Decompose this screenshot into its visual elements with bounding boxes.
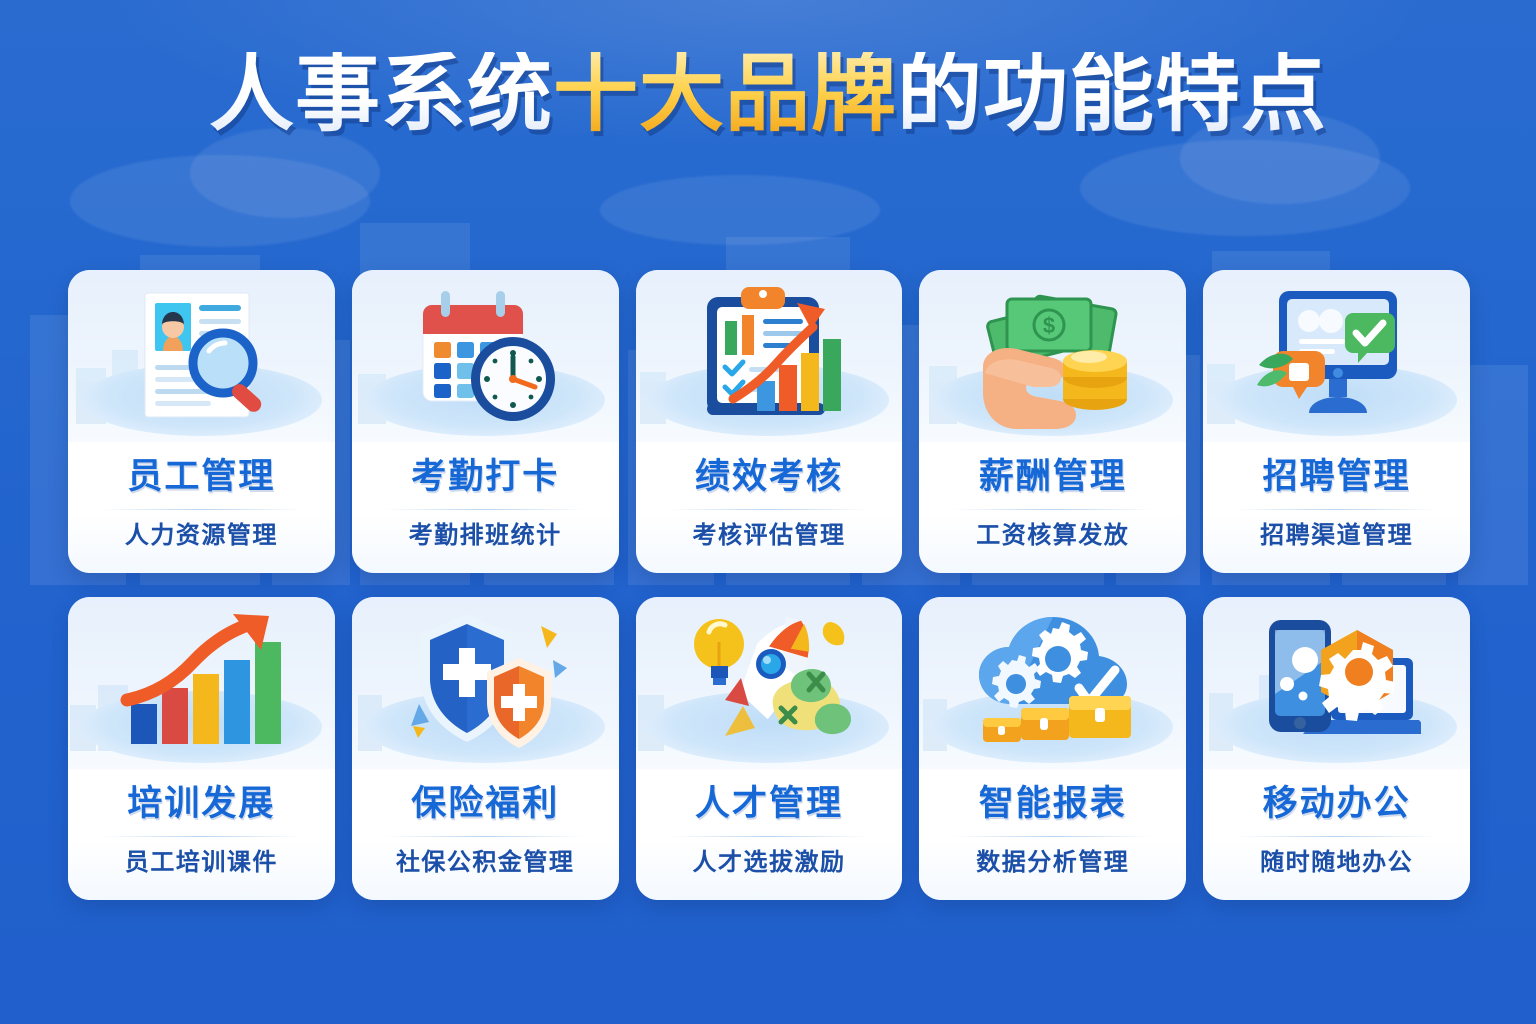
card-text-area: 移动办公 随时随地办公 [1203, 769, 1470, 900]
page-title-container: 人事系统十大品牌的功能特点 [0, 52, 1536, 137]
feature-card[interactable]: 员工管理 人力资源管理 [68, 270, 335, 573]
feature-card[interactable]: 培训发展 员工培训课件 [68, 597, 335, 900]
rocket-bulb-icon [685, 608, 853, 758]
feature-card[interactable]: 人才管理 人才选拔激励 [636, 597, 903, 900]
card-subtitle: 考核评估管理 [692, 522, 845, 551]
page-title: 人事系统十大品牌的功能特点 [209, 52, 1327, 137]
card-icon-area [352, 597, 619, 769]
card-text-area: 智能报表 数据分析管理 [919, 769, 1186, 900]
card-icon-area: $ [919, 270, 1186, 442]
hand-money-coins-icon: $ [969, 281, 1137, 431]
card-text-area: 员工管理 人力资源管理 [68, 442, 335, 573]
card-icon-area [636, 270, 903, 442]
monitor-check-icon [1253, 281, 1421, 431]
resume-magnifier-icon [117, 281, 285, 431]
feature-card[interactable]: 移动办公 随时随地办公 [1203, 597, 1470, 900]
card-title: 保险福利 [411, 783, 559, 824]
feature-card[interactable]: 智能报表 数据分析管理 [919, 597, 1186, 900]
card-icon-area [352, 270, 619, 442]
card-divider [1236, 509, 1437, 510]
card-title: 员工管理 [127, 456, 275, 497]
card-subtitle: 员工培训课件 [125, 849, 278, 878]
card-divider [385, 509, 586, 510]
card-title: 移动办公 [1263, 783, 1411, 824]
feature-card[interactable]: 考勤打卡 考勤排班统计 [352, 270, 619, 573]
card-divider [669, 509, 870, 510]
feature-card[interactable]: 保险福利 社保公积金管理 [352, 597, 619, 900]
card-divider [385, 836, 586, 837]
cloud-gears-boxes-icon [969, 608, 1137, 758]
card-subtitle: 人力资源管理 [125, 522, 278, 551]
card-subtitle: 数据分析管理 [976, 849, 1129, 878]
feature-cards-grid: 员工管理 人力资源管理 考勤打卡 [68, 270, 1470, 900]
card-title: 培训发展 [127, 783, 275, 824]
card-subtitle: 招聘渠道管理 [1260, 522, 1413, 551]
card-text-area: 保险福利 社保公积金管理 [352, 769, 619, 900]
card-subtitle: 工资核算发放 [976, 522, 1129, 551]
card-divider [1236, 836, 1437, 837]
calendar-clock-icon [401, 281, 569, 431]
card-text-area: 薪酬管理 工资核算发放 [919, 442, 1186, 573]
card-icon-area [636, 597, 903, 769]
card-title: 绩效考核 [695, 456, 843, 497]
card-title: 人才管理 [695, 783, 843, 824]
card-title: 薪酬管理 [979, 456, 1127, 497]
card-icon-area [919, 597, 1186, 769]
card-title: 智能报表 [979, 783, 1127, 824]
card-subtitle: 随时随地办公 [1260, 849, 1413, 878]
feature-card[interactable]: 绩效考核 考核评估管理 [636, 270, 903, 573]
card-text-area: 人才管理 人才选拔激励 [636, 769, 903, 900]
feature-card[interactable]: $ 薪酬管理 工资核算发放 [919, 270, 1186, 573]
card-text-area: 培训发展 员工培训课件 [68, 769, 335, 900]
card-icon-area [68, 270, 335, 442]
svg-text:$: $ [1043, 313, 1055, 338]
clipboard-chart-icon [685, 281, 853, 431]
card-divider [953, 509, 1154, 510]
card-subtitle: 人才选拔激励 [692, 849, 845, 878]
card-divider [101, 509, 302, 510]
card-subtitle: 社保公积金管理 [396, 849, 575, 878]
growth-chart-arrow-icon [117, 608, 285, 758]
card-icon-area [1203, 597, 1470, 769]
title-segment-3: 的功能特点 [897, 52, 1327, 137]
card-icon-area [68, 597, 335, 769]
card-divider [669, 836, 870, 837]
card-text-area: 招聘管理 招聘渠道管理 [1203, 442, 1470, 573]
card-divider [953, 836, 1154, 837]
card-subtitle: 考勤排班统计 [409, 522, 562, 551]
card-title: 考勤打卡 [411, 456, 559, 497]
shields-cross-icon [401, 608, 569, 758]
card-divider [101, 836, 302, 837]
title-segment-2: 十大品牌 [553, 52, 897, 137]
title-segment-1: 人事系统 [209, 52, 553, 137]
feature-card[interactable]: 招聘管理 招聘渠道管理 [1203, 270, 1470, 573]
card-icon-area [1203, 270, 1470, 442]
card-text-area: 绩效考核 考核评估管理 [636, 442, 903, 573]
phone-laptop-gear-icon [1253, 608, 1421, 758]
card-title: 招聘管理 [1263, 456, 1411, 497]
card-text-area: 考勤打卡 考勤排班统计 [352, 442, 619, 573]
